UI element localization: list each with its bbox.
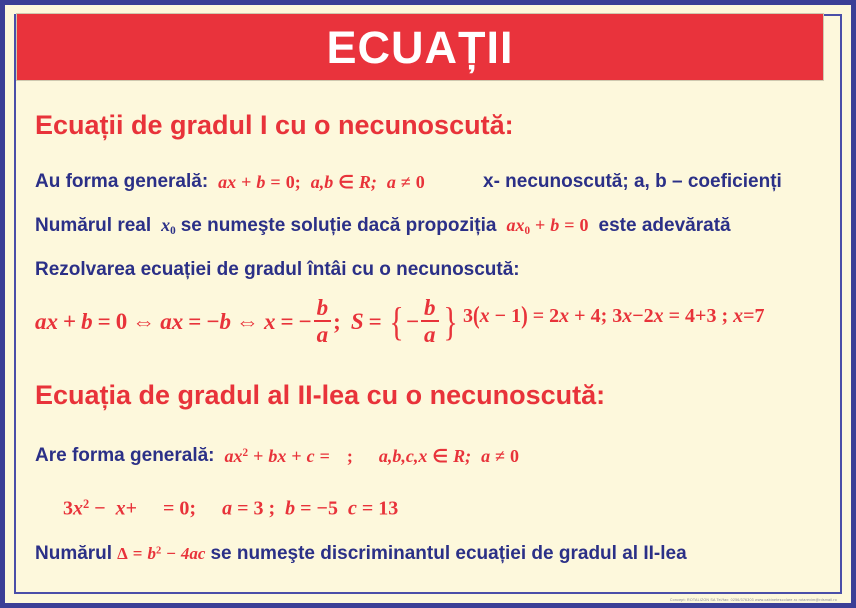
solution-formula-b: b bbox=[550, 215, 559, 235]
quad-exponent: 2 bbox=[243, 447, 249, 459]
formula-not-equal: ≠ bbox=[401, 172, 411, 192]
ex-equals: = bbox=[533, 305, 544, 327]
solution-text-part2: se numeşte soluție dacă propoziția bbox=[181, 215, 497, 237]
solution-text-part3: este adevărată bbox=[599, 215, 731, 237]
quadratic-example-row: 3x2−x+= 0;a= 3;b= −5c= 13 bbox=[63, 497, 398, 520]
deriv-iff-2: ⇔ bbox=[236, 309, 259, 335]
quad-zero: 0 bbox=[510, 446, 519, 466]
deriv-ax: ax bbox=[35, 309, 58, 335]
quad-bx: bx bbox=[268, 446, 286, 466]
general-form-formula: ax+b=0;a,b∈R;a≠0 bbox=[218, 172, 425, 193]
deriv-ax-2: ax bbox=[160, 309, 183, 335]
discriminant-label-part2: se numeşte discriminantul ecuației de gr… bbox=[210, 543, 686, 565]
qex-b: b bbox=[285, 497, 295, 519]
ex-x-3: x bbox=[622, 305, 632, 327]
ex-x-4: x bbox=[654, 305, 664, 327]
discriminant-b: b bbox=[147, 544, 156, 563]
page-title: ECUAȚII bbox=[327, 25, 514, 70]
quadratic-example-formula: 3x2−x+= 0;a= 3;b= −5c= 13 bbox=[63, 497, 398, 520]
ex-equals-2: = bbox=[669, 305, 680, 327]
ex-x-5: x bbox=[733, 305, 743, 327]
deriv-b: b bbox=[81, 309, 93, 335]
ex-paren-open: ( bbox=[473, 302, 480, 331]
solution-formula-subscript: 0 bbox=[524, 225, 530, 237]
solving-method-label: Rezolvarea ecuației de gradul întâi cu o… bbox=[35, 259, 520, 281]
formula-zero-2: 0 bbox=[416, 172, 425, 192]
solution-set-numerator: b bbox=[421, 296, 439, 319]
section-1-heading: Ecuații de gradul I cu o necunoscută: bbox=[35, 110, 514, 141]
qex-c: c bbox=[348, 497, 357, 519]
qex-a: a bbox=[222, 497, 232, 519]
variable-x: x bbox=[161, 215, 170, 235]
footer-credits: Concept: ROTALIZON SA Tel/fax: 0256/3763… bbox=[670, 598, 837, 602]
discriminant-b-exponent: 2 bbox=[156, 546, 161, 557]
solution-set-equals: = bbox=[369, 309, 382, 335]
qex-c-value: = 13 bbox=[362, 497, 398, 519]
deriv-equals-2: = bbox=[188, 309, 201, 335]
deriv-minus: − bbox=[206, 309, 219, 335]
quadratic-general-formula: ax2+bx+c=;a,b,c,x∈R;a≠0 bbox=[225, 446, 519, 467]
ex-semicolon: ; bbox=[601, 305, 608, 327]
ex-2b: 2 bbox=[644, 305, 654, 327]
solution-set-denominator: a bbox=[421, 323, 439, 346]
deriv-zero: 0 bbox=[116, 309, 128, 335]
ex-2: 2 bbox=[549, 305, 559, 327]
quad-equals: = bbox=[320, 446, 330, 466]
brace-open: { bbox=[389, 306, 403, 338]
deriv-equals: = bbox=[98, 309, 111, 335]
deriv-iff-1: ⇔ bbox=[132, 309, 155, 335]
quad-a: a bbox=[481, 446, 490, 466]
formula-b: b bbox=[256, 172, 265, 192]
quad-in-symbol: ∈ bbox=[432, 446, 448, 466]
title-banner: ECUAȚII bbox=[16, 13, 824, 81]
quad-not-equal: ≠ bbox=[495, 446, 505, 466]
ex-paren-close: ) bbox=[521, 302, 528, 331]
qex-x-2: x bbox=[116, 497, 126, 519]
discriminant-label-part1: Numărul bbox=[35, 543, 112, 565]
deriv-x: x bbox=[264, 309, 276, 335]
qex-x: x bbox=[73, 497, 83, 519]
ex-x-2: x bbox=[559, 305, 569, 327]
qex-plus: + bbox=[126, 497, 137, 519]
qex-semicolon: ; bbox=[268, 497, 275, 519]
formula-R: R; bbox=[359, 172, 377, 192]
deriv-b-2: b bbox=[219, 309, 231, 335]
delta-symbol: Δ bbox=[117, 544, 128, 563]
unknown-coefficients-note: x- necunoscută; a, b – coeficienți bbox=[483, 171, 782, 193]
general-form-row: Au forma generală: ax+b=0;a,b∈R;a≠0 bbox=[35, 171, 425, 193]
solution-formula-ax: ax bbox=[506, 215, 524, 235]
ex-plus: + bbox=[574, 305, 585, 327]
discriminant-4ac: 4ac bbox=[181, 544, 206, 563]
quad-plus-2: + bbox=[291, 446, 301, 466]
qex-a-value: = 3 bbox=[237, 497, 263, 519]
ex-3b: 3 bbox=[612, 305, 622, 327]
formula-a: a bbox=[387, 172, 396, 192]
qex-minus: − bbox=[94, 497, 105, 519]
ex-4: 4 bbox=[591, 305, 601, 327]
solving-method-row: Rezolvarea ecuației de gradul întâi cu o… bbox=[35, 259, 520, 281]
discriminant-equals: = bbox=[133, 544, 143, 563]
poster: ECUAȚII Ecuații de gradul I cu o necunos… bbox=[0, 0, 856, 608]
ex-x: x bbox=[480, 305, 490, 327]
qex-exponent: 2 bbox=[83, 497, 89, 511]
fraction-b-over-a: ba bbox=[314, 296, 332, 347]
deriv-equals-3: = bbox=[280, 309, 293, 335]
qex-3: 3 bbox=[63, 497, 73, 519]
general-form-label: Au forma generală: bbox=[35, 171, 208, 193]
brace-close: } bbox=[443, 306, 457, 338]
solution-formula-zero: 0 bbox=[580, 215, 589, 235]
deriv-minus-2: − bbox=[299, 309, 312, 335]
quadratic-form-label: Are forma generală: bbox=[35, 445, 215, 467]
discriminant-minus: − bbox=[166, 544, 176, 563]
discriminant-formula: Δ=b2−4ac bbox=[117, 544, 205, 564]
quad-plus: + bbox=[253, 446, 263, 466]
quad-R: R; bbox=[453, 446, 471, 466]
ex-7: 7 bbox=[755, 305, 765, 327]
ex-minus-2: − bbox=[632, 305, 643, 327]
formula-plus: + bbox=[241, 172, 251, 192]
solution-definition-row: Numărul real x0 se numeşte soluție dacă … bbox=[35, 215, 731, 237]
qex-equals-zero: = 0; bbox=[163, 497, 196, 519]
solution-formula-equals: = bbox=[564, 215, 574, 235]
ex-1: 1 bbox=[511, 305, 521, 327]
ex-3c: 3 bbox=[706, 305, 716, 327]
unknown-note-row: x- necunoscută; a, b – coeficienți bbox=[483, 171, 782, 193]
ex-equals-3: = bbox=[743, 305, 754, 327]
discriminant-row: Numărul Δ=b2−4ac se numeşte discriminant… bbox=[35, 543, 687, 565]
solution-set-fraction: ba bbox=[421, 296, 439, 347]
derivation-formula: ax+b=0⇔ax=−b⇔x=−ba;S={−ba} bbox=[35, 297, 460, 348]
formula-in-symbol: ∈ bbox=[338, 172, 354, 192]
quad-ax: ax bbox=[225, 446, 243, 466]
variable-subscript: 0 bbox=[170, 225, 176, 237]
solution-text-part1: Numărul real bbox=[35, 215, 151, 237]
linear-example: 3(x−1)=2x+4;3x−2x=4+3;x=7 bbox=[463, 305, 765, 328]
ex-plus-2: + bbox=[695, 305, 706, 327]
solution-set-S: S bbox=[351, 309, 364, 335]
solution-formula-plus: + bbox=[535, 215, 545, 235]
fraction-denominator: a bbox=[314, 323, 332, 346]
deriv-plus: + bbox=[63, 309, 76, 335]
solution-formula: ax0+b=0 bbox=[506, 215, 588, 237]
quad-c: c bbox=[307, 446, 315, 466]
formula-ab: a,b bbox=[311, 172, 334, 192]
quadratic-general-form-row: Are forma generală: ax2+bx+c=;a,b,c,x∈R;… bbox=[35, 445, 519, 467]
quad-semicolon: ; bbox=[347, 446, 353, 466]
formula-equals: = bbox=[270, 172, 280, 192]
formula-zero: 0; bbox=[286, 172, 301, 192]
solution-set-minus: − bbox=[406, 309, 419, 335]
ex-4b: 4 bbox=[685, 305, 695, 327]
fraction-numerator: b bbox=[314, 296, 332, 319]
ex-3: 3 bbox=[463, 305, 473, 327]
qex-b-value: = −5 bbox=[300, 497, 338, 519]
solution-variable: x0 bbox=[161, 215, 176, 237]
section-2-heading: Ecuația de gradul al II-lea cu o necunos… bbox=[35, 380, 605, 411]
quad-abcx: a,b,c,x bbox=[379, 446, 428, 466]
ex-semicolon-2: ; bbox=[721, 305, 728, 327]
deriv-semicolon: ; bbox=[333, 309, 341, 335]
ex-minus: − bbox=[495, 305, 506, 327]
formula-ax: ax bbox=[218, 172, 236, 192]
